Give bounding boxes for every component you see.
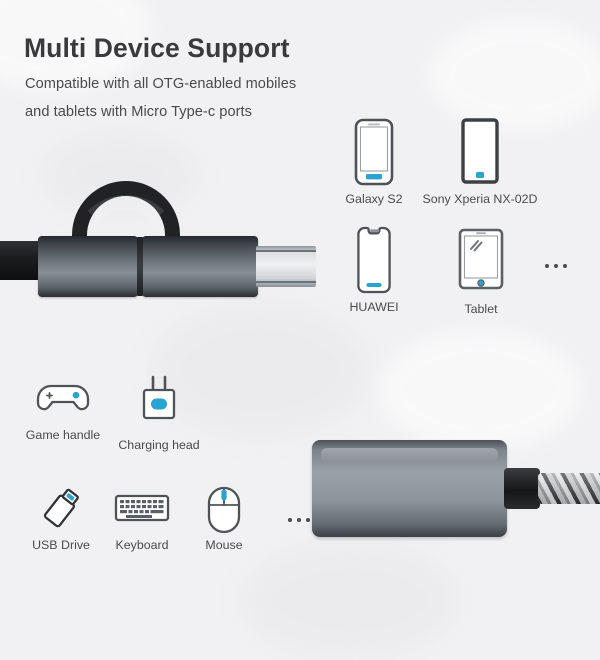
device-label: HUAWEI (349, 300, 398, 314)
device-label: Galaxy S2 (345, 192, 402, 206)
device-label: Sony Xperia NX-02D (422, 192, 537, 206)
mouse-icon (207, 486, 241, 534)
subtitle-line-1: Compatible with all OTG-enabled mobiles (25, 76, 296, 92)
housing-seam (137, 237, 143, 296)
product-usb-female-adapter (306, 435, 600, 550)
accessory-item-keyboard: Keyboard (110, 492, 174, 556)
charger-plug-icon (136, 374, 182, 426)
watermark-blotch (240, 540, 460, 660)
accessory-item-game-handle: Game handle (32, 382, 94, 452)
device-item-tablet: Tablet (448, 228, 514, 318)
device-item-galaxy-s2: Galaxy S2 (343, 118, 405, 208)
watermark-blotch (380, 330, 580, 450)
device-item-huawei: HUAWEI (343, 226, 405, 316)
accessory-label: Charging head (118, 438, 199, 452)
accessory-item-mouse: Mouse (196, 486, 252, 556)
watermark-blotch (430, 20, 600, 130)
accessory-label: Keyboard (115, 538, 168, 552)
accessory-item-charging-head: Charging head (128, 374, 190, 452)
subtitle-line-2: and tablets with Micro Type-c ports (25, 104, 252, 120)
accessory-label: USB Drive (32, 538, 90, 552)
type-c-housing (142, 236, 258, 297)
phone-galaxy-icon (354, 118, 394, 186)
adapter-housing (312, 440, 507, 537)
gamepad-icon (35, 382, 91, 416)
micro-usb-housing (38, 236, 138, 297)
phone-huawei-notch-icon (354, 226, 394, 294)
page-title: Multi Device Support (24, 33, 290, 64)
phone-xperia-icon (461, 118, 499, 184)
usb-flash-drive-icon (37, 484, 85, 534)
accessory-label: Mouse (205, 538, 242, 552)
device-label: Tablet (464, 302, 497, 316)
device-item-sony-xperia: Sony Xperia NX-02D (449, 118, 511, 208)
keyboard-icon (114, 492, 170, 524)
infographic-canvas: Multi Device Support Compatible with all… (0, 0, 600, 600)
strain-relief (504, 468, 540, 509)
product-cable-2in1 (0, 180, 324, 305)
tablet-icon (458, 228, 504, 290)
braided-cable (538, 473, 600, 504)
devices-more-indicator (545, 264, 567, 268)
accessory-label: Game handle (26, 428, 100, 442)
usb-c-connector-tip (256, 246, 316, 287)
accessory-item-usb-drive: USB Drive (30, 484, 92, 556)
